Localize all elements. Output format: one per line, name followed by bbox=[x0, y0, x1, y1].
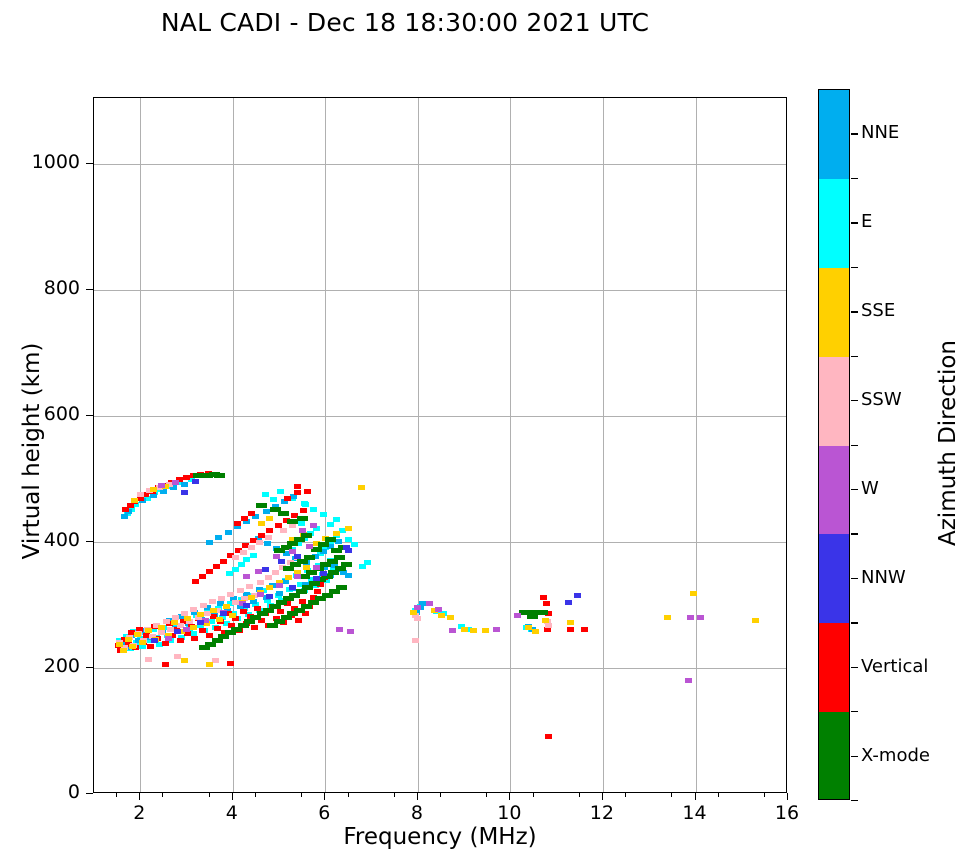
colorbar-label-nne: NNE bbox=[861, 122, 899, 143]
y-tick bbox=[86, 541, 93, 542]
data-point-sse bbox=[181, 658, 188, 663]
x-tick bbox=[232, 793, 233, 800]
data-point-sse bbox=[120, 648, 127, 653]
data-point-ssw bbox=[209, 599, 216, 604]
data-point-nne bbox=[150, 493, 157, 498]
data-point-vertical bbox=[277, 609, 284, 614]
data-point-vertical bbox=[294, 484, 301, 489]
data-point-vertical bbox=[147, 644, 154, 649]
colorbar-boundary-tick bbox=[851, 445, 858, 446]
x-tick-label: 12 bbox=[572, 802, 632, 824]
data-point-e bbox=[301, 501, 308, 506]
data-point-sse bbox=[206, 662, 213, 667]
data-point-w bbox=[299, 528, 306, 533]
colorbar-label-ssw: SSW bbox=[861, 389, 902, 410]
data-point-vertical bbox=[162, 662, 169, 667]
colorbar-boundary-tick bbox=[851, 711, 858, 712]
data-point-x-mode bbox=[214, 473, 225, 478]
data-point-nne bbox=[263, 509, 270, 514]
x-tick-minor bbox=[440, 793, 441, 797]
data-point-sse bbox=[664, 615, 671, 620]
data-point-w bbox=[183, 627, 190, 632]
data-point-e bbox=[364, 560, 371, 565]
data-point-sse bbox=[532, 629, 539, 634]
data-point-vertical bbox=[183, 475, 190, 480]
colorbar-tick bbox=[851, 222, 858, 223]
data-point-ssw bbox=[227, 592, 234, 597]
data-point-sse bbox=[266, 516, 273, 521]
data-point-ssw bbox=[257, 580, 264, 585]
colorbar-segment-vertical[interactable] bbox=[819, 623, 849, 712]
data-point-ssw bbox=[272, 570, 279, 575]
data-point-nne bbox=[215, 535, 222, 540]
data-point-x-mode bbox=[336, 585, 347, 590]
data-point-w bbox=[306, 544, 313, 549]
colorbar-segment-e[interactable] bbox=[819, 179, 849, 268]
data-point-w bbox=[294, 574, 301, 579]
data-point-vertical bbox=[304, 489, 311, 494]
y-tick-label: 200 bbox=[0, 655, 80, 677]
data-point-e bbox=[250, 553, 257, 558]
gridline-vertical bbox=[140, 98, 141, 792]
data-point-sse bbox=[438, 613, 445, 618]
data-point-sse bbox=[266, 585, 273, 590]
data-point-vertical bbox=[284, 496, 291, 501]
data-point-nne bbox=[276, 591, 283, 596]
data-point-ssw bbox=[412, 638, 419, 643]
data-point-sse bbox=[482, 628, 489, 633]
data-point-ssw bbox=[265, 575, 272, 580]
data-point-x-mode bbox=[256, 503, 267, 508]
data-point-sse bbox=[131, 498, 138, 503]
data-point-w bbox=[697, 615, 704, 620]
data-point-e bbox=[320, 512, 327, 517]
data-point-sse bbox=[216, 617, 223, 622]
data-point-nnw bbox=[262, 567, 269, 572]
data-point-w bbox=[514, 613, 521, 618]
data-point-w bbox=[310, 523, 317, 528]
data-point-ssw bbox=[414, 616, 421, 621]
data-point-sse bbox=[158, 625, 165, 630]
colorbar-segment-nnw[interactable] bbox=[819, 534, 849, 623]
data-point-sse bbox=[229, 613, 236, 618]
data-point-vertical bbox=[191, 636, 198, 641]
x-tick-minor bbox=[162, 793, 163, 797]
x-tick-label: 10 bbox=[479, 802, 539, 824]
data-point-w bbox=[414, 605, 421, 610]
data-point-x-mode bbox=[341, 562, 352, 567]
data-point-ssw bbox=[237, 588, 244, 593]
colorbar[interactable] bbox=[818, 89, 850, 800]
data-point-nnw bbox=[192, 479, 199, 484]
colorbar-boundary-tick bbox=[851, 622, 858, 623]
data-point-sse bbox=[116, 642, 123, 647]
gridline-vertical bbox=[418, 98, 419, 792]
data-point-ssw bbox=[172, 615, 179, 620]
data-point-x-mode bbox=[537, 610, 548, 615]
data-point-ssw bbox=[218, 596, 225, 601]
data-point-nne bbox=[206, 540, 213, 545]
data-point-nnw bbox=[174, 629, 181, 634]
data-point-nnw bbox=[243, 603, 250, 608]
data-point-vertical bbox=[294, 490, 301, 495]
data-point-nne bbox=[345, 573, 352, 578]
data-point-vertical bbox=[240, 609, 247, 614]
data-point-vertical bbox=[227, 661, 234, 666]
y-axis-title: Virtual height (km) bbox=[19, 281, 45, 621]
data-point-ssw bbox=[200, 603, 207, 608]
data-point-ssw bbox=[232, 555, 239, 560]
gridline-horizontal bbox=[94, 542, 786, 543]
data-point-e bbox=[226, 571, 233, 576]
x-tick-label: 4 bbox=[202, 802, 262, 824]
y-tick-label: 0 bbox=[0, 781, 80, 803]
data-point-w bbox=[347, 629, 354, 634]
data-point-nnw bbox=[320, 571, 327, 576]
data-point-sse bbox=[223, 604, 230, 609]
colorbar-label-x-mode: X-mode bbox=[861, 745, 930, 766]
data-point-w bbox=[276, 583, 283, 588]
plot-area bbox=[93, 97, 787, 793]
colorbar-segment-sse[interactable] bbox=[819, 268, 849, 357]
y-tick bbox=[86, 793, 93, 794]
colorbar-label-e: E bbox=[861, 211, 872, 232]
data-point-w bbox=[685, 678, 692, 683]
x-tick-minor bbox=[579, 793, 580, 797]
data-point-nnw bbox=[294, 554, 301, 559]
colorbar-tick bbox=[851, 578, 858, 579]
gridline-vertical bbox=[233, 98, 234, 792]
data-point-nnw bbox=[345, 548, 352, 553]
gridline-horizontal bbox=[94, 164, 786, 165]
x-tick-minor bbox=[486, 793, 487, 797]
data-point-nne bbox=[181, 482, 188, 487]
data-point-w bbox=[426, 601, 433, 606]
colorbar-label-nnw: NNW bbox=[861, 567, 906, 588]
gridline-vertical bbox=[325, 98, 326, 792]
data-point-w bbox=[257, 592, 264, 597]
data-point-e bbox=[243, 557, 250, 562]
data-point-sse bbox=[525, 625, 532, 630]
data-point-vertical bbox=[543, 601, 550, 606]
data-point-ssw bbox=[240, 550, 247, 555]
colorbar-label-w: W bbox=[861, 478, 879, 499]
data-point-sse bbox=[542, 618, 549, 623]
data-point-vertical bbox=[220, 559, 227, 564]
data-point-vertical bbox=[213, 564, 220, 569]
x-tick-minor bbox=[718, 793, 719, 797]
data-point-nnw bbox=[574, 593, 581, 598]
data-point-sse bbox=[752, 618, 759, 623]
data-point-vertical bbox=[295, 618, 302, 623]
data-point-nne bbox=[250, 599, 257, 604]
data-point-x-mode bbox=[318, 542, 329, 547]
chart-title: NAL CADI - Dec 18 18:30:00 2021 UTC bbox=[0, 8, 810, 37]
data-point-sse bbox=[129, 644, 136, 649]
x-tick bbox=[695, 793, 696, 800]
data-point-nnw bbox=[197, 620, 204, 625]
gridline-vertical bbox=[510, 98, 511, 792]
data-point-sse bbox=[197, 612, 204, 617]
colorbar-boundary-tick bbox=[851, 800, 858, 801]
data-point-sse bbox=[447, 615, 454, 620]
data-point-e bbox=[298, 521, 305, 526]
data-point-sse bbox=[150, 487, 157, 492]
data-point-x-mode bbox=[304, 555, 315, 560]
data-point-vertical bbox=[199, 628, 206, 633]
x-tick-minor bbox=[671, 793, 672, 797]
colorbar-tick bbox=[851, 756, 858, 757]
colorbar-tick bbox=[851, 400, 858, 401]
data-point-nne bbox=[225, 530, 232, 535]
data-point-ssw bbox=[163, 619, 170, 624]
x-tick-label: 6 bbox=[294, 802, 354, 824]
colorbar-boundary-tick bbox=[851, 533, 858, 534]
gridline-vertical bbox=[603, 98, 604, 792]
data-point-ssw bbox=[181, 611, 188, 616]
y-tick bbox=[86, 289, 93, 290]
y-tick bbox=[86, 667, 93, 668]
gridline-horizontal bbox=[94, 668, 786, 669]
data-point-nnw bbox=[289, 585, 296, 590]
y-tick-label: 1000 bbox=[0, 151, 80, 173]
x-tick bbox=[787, 793, 788, 800]
data-point-sse bbox=[125, 637, 132, 642]
data-point-ssw bbox=[145, 657, 152, 662]
data-point-sse bbox=[210, 608, 217, 613]
data-point-sse bbox=[285, 575, 292, 580]
data-point-sse bbox=[461, 627, 468, 632]
x-tick-minor bbox=[209, 793, 210, 797]
data-point-sse bbox=[345, 526, 352, 531]
colorbar-tick bbox=[851, 133, 858, 134]
data-point-x-mode bbox=[297, 516, 308, 521]
data-point-w bbox=[313, 565, 320, 570]
data-point-vertical bbox=[234, 521, 241, 526]
y-tick bbox=[86, 415, 93, 416]
x-tick bbox=[417, 793, 418, 800]
data-point-e bbox=[238, 562, 245, 567]
colorbar-boundary-tick bbox=[851, 178, 858, 179]
colorbar-segment-x-mode[interactable] bbox=[819, 712, 849, 800]
data-point-w bbox=[435, 607, 442, 612]
data-point-vertical bbox=[199, 574, 206, 579]
data-point-sse bbox=[358, 485, 365, 490]
gridline-horizontal bbox=[94, 290, 786, 291]
data-point-w bbox=[158, 483, 165, 488]
y-tick bbox=[86, 163, 93, 164]
colorbar-segment-w[interactable] bbox=[819, 446, 849, 535]
x-tick-label: 14 bbox=[665, 802, 725, 824]
x-tick-minor bbox=[625, 793, 626, 797]
data-point-sse bbox=[470, 628, 477, 633]
data-point-vertical bbox=[545, 734, 552, 739]
ionogram-figure: NAL CADI - Dec 18 18:30:00 2021 UTC 2468… bbox=[0, 0, 958, 857]
data-point-w bbox=[687, 615, 694, 620]
x-tick-minor bbox=[394, 793, 395, 797]
data-point-ssw bbox=[246, 584, 253, 589]
x-tick-label: 16 bbox=[757, 802, 817, 824]
data-point-sse bbox=[567, 620, 574, 625]
colorbar-boundary-tick bbox=[851, 356, 858, 357]
data-point-vertical bbox=[540, 595, 547, 600]
data-point-e bbox=[351, 542, 358, 547]
data-point-nnw bbox=[565, 600, 572, 605]
data-point-vertical bbox=[300, 508, 307, 513]
data-point-vertical bbox=[251, 625, 258, 630]
x-tick-minor bbox=[255, 793, 256, 797]
data-point-w bbox=[172, 480, 179, 485]
colorbar-boundary-tick bbox=[851, 267, 858, 268]
data-point-sse bbox=[410, 610, 417, 615]
data-point-nnw bbox=[266, 594, 273, 599]
colorbar-label-vertical: Vertical bbox=[861, 656, 928, 677]
data-point-sse bbox=[248, 595, 255, 600]
x-tick-minor bbox=[533, 793, 534, 797]
x-tick-minor bbox=[301, 793, 302, 797]
data-point-e bbox=[310, 507, 317, 512]
data-point-ssw bbox=[280, 528, 287, 533]
data-point-w bbox=[255, 569, 262, 574]
data-point-sse bbox=[145, 628, 152, 633]
data-point-x-mode bbox=[278, 511, 289, 516]
data-point-nnw bbox=[313, 576, 320, 581]
x-tick bbox=[139, 793, 140, 800]
x-tick bbox=[602, 793, 603, 800]
data-point-nnw bbox=[278, 559, 285, 564]
data-point-sse bbox=[333, 531, 340, 536]
data-point-e bbox=[262, 492, 269, 497]
data-point-vertical bbox=[192, 579, 199, 584]
data-point-sse bbox=[134, 632, 141, 637]
data-point-w bbox=[449, 628, 456, 633]
data-point-sse bbox=[190, 625, 197, 630]
data-point-sse bbox=[258, 521, 265, 526]
x-tick bbox=[509, 793, 510, 800]
x-tick-label: 2 bbox=[109, 802, 169, 824]
data-point-sse bbox=[139, 640, 146, 645]
gridline-horizontal bbox=[94, 416, 786, 417]
data-point-ssw bbox=[256, 540, 263, 545]
data-point-w bbox=[165, 636, 172, 641]
data-point-w bbox=[243, 574, 250, 579]
colorbar-segment-ssw[interactable] bbox=[819, 357, 849, 446]
data-point-nne bbox=[264, 541, 271, 546]
data-point-w bbox=[493, 627, 500, 632]
data-point-ssw bbox=[248, 545, 255, 550]
data-point-vertical bbox=[248, 511, 255, 516]
data-point-vertical bbox=[314, 589, 321, 594]
data-point-sse bbox=[171, 620, 178, 625]
x-tick-minor bbox=[764, 793, 765, 797]
data-point-vertical bbox=[581, 627, 588, 632]
x-tick-minor bbox=[116, 793, 117, 797]
data-point-vertical bbox=[241, 516, 248, 521]
data-point-vertical bbox=[567, 627, 574, 632]
data-point-w bbox=[336, 627, 343, 632]
data-point-e bbox=[232, 567, 239, 572]
data-point-e bbox=[270, 497, 277, 502]
data-point-nnw bbox=[181, 490, 188, 495]
colorbar-segment-nne[interactable] bbox=[819, 90, 849, 179]
data-point-vertical bbox=[162, 641, 169, 646]
x-tick-minor bbox=[348, 793, 349, 797]
data-point-vertical bbox=[214, 626, 221, 631]
data-point-nnw bbox=[151, 638, 158, 643]
data-point-ssw bbox=[545, 623, 552, 628]
colorbar-title: Azimuth Direction bbox=[935, 273, 958, 613]
data-point-nne bbox=[121, 514, 128, 519]
data-point-vertical bbox=[177, 638, 184, 643]
data-point-x-mode bbox=[527, 614, 538, 619]
colorbar-tick bbox=[851, 489, 858, 490]
data-point-e bbox=[327, 522, 334, 527]
data-point-vertical bbox=[266, 528, 273, 533]
data-point-nnw bbox=[220, 611, 227, 616]
gridline-vertical bbox=[696, 98, 697, 792]
data-point-e bbox=[333, 517, 340, 522]
data-point-sse bbox=[690, 591, 697, 596]
x-tick bbox=[324, 793, 325, 800]
colorbar-tick bbox=[851, 311, 858, 312]
data-point-sse bbox=[184, 616, 191, 621]
x-tick-label: 8 bbox=[387, 802, 447, 824]
data-point-nne bbox=[335, 539, 342, 544]
colorbar-tick bbox=[851, 667, 858, 668]
data-point-ssw bbox=[137, 492, 144, 497]
data-point-ssw bbox=[265, 535, 272, 540]
data-point-x-mode bbox=[334, 555, 345, 560]
colorbar-label-sse: SSE bbox=[861, 300, 895, 321]
data-point-x-mode bbox=[301, 533, 312, 538]
data-point-vertical bbox=[206, 569, 213, 574]
data-point-x-mode bbox=[325, 537, 336, 542]
x-axis-title: Frequency (MHz) bbox=[93, 824, 787, 850]
data-point-e bbox=[277, 489, 284, 494]
